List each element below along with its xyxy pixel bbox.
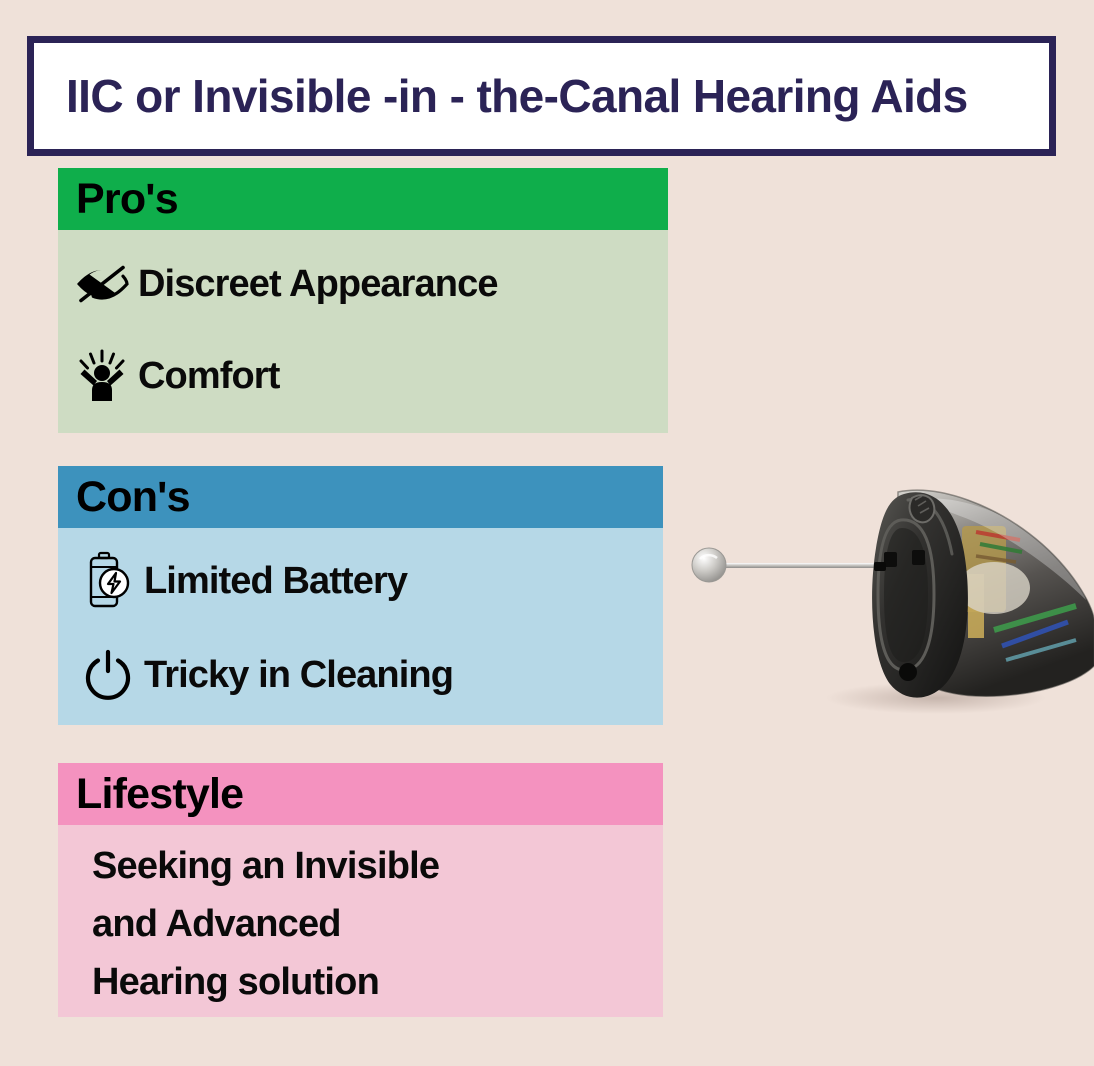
list-item-label: Tricky in Cleaning: [144, 656, 453, 694]
section-lifestyle-body: Seeking an Invisible and Advanced Hearin…: [58, 825, 663, 1017]
section-pros-header: Pro's: [58, 168, 668, 230]
section-lifestyle-header: Lifestyle: [58, 763, 663, 825]
battery-bolt-icon: [72, 550, 144, 612]
section-lifestyle-heading: Lifestyle: [76, 773, 243, 816]
infographic-canvas: IIC or Invisible -in - the-Canal Hearing…: [0, 0, 1094, 1066]
iic-hearing-aid-photo: [676, 470, 1094, 720]
list-item: Tricky in Cleaning: [58, 628, 663, 722]
list-item-label: Discreet Appearance: [138, 265, 498, 303]
eye-slash-icon: [66, 264, 138, 304]
section-pros-heading: Pro's: [76, 178, 178, 221]
section-cons-heading: Con's: [76, 476, 190, 519]
power-button-icon: [72, 647, 144, 703]
page-title-box: IIC or Invisible -in - the-Canal Hearing…: [27, 36, 1056, 156]
list-item-label: Comfort: [138, 357, 279, 395]
page-title: IIC or Invisible -in - the-Canal Hearing…: [34, 73, 968, 119]
section-cons-body: Limited Battery Tricky in Cleaning: [58, 528, 663, 725]
lifestyle-text-line: and Advanced: [92, 895, 663, 953]
lifestyle-text-line: Seeking an Invisible: [92, 837, 663, 895]
lifestyle-text-line: Hearing solution: [92, 953, 663, 1011]
list-item: Discreet Appearance: [58, 238, 668, 330]
list-item: Limited Battery: [58, 534, 663, 628]
person-celebrating-icon: [66, 349, 138, 403]
list-item-label: Limited Battery: [144, 562, 407, 600]
section-pros-body: Discreet Appearance: [58, 230, 668, 433]
section-lifestyle: Lifestyle Seeking an Invisible and Advan…: [58, 763, 663, 1017]
section-pros: Pro's Discreet Appearance: [58, 168, 668, 433]
list-item: Comfort: [58, 330, 668, 422]
section-cons-header: Con's: [58, 466, 663, 528]
section-cons: Con's Limited Battery: [58, 466, 663, 725]
